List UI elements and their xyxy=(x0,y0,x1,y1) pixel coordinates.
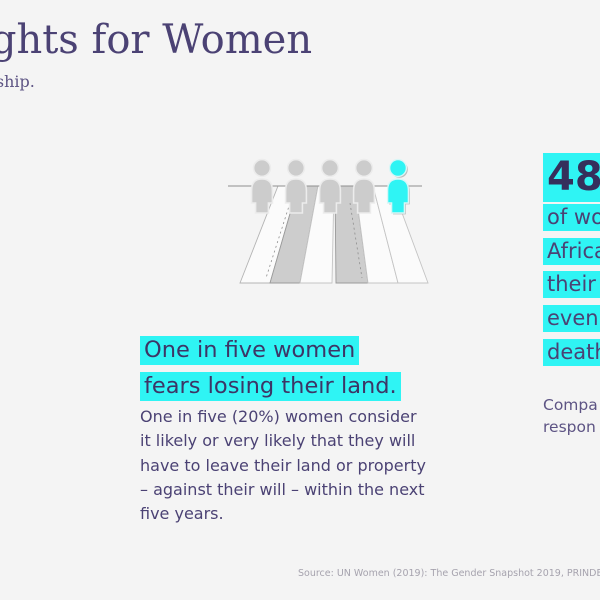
center-body-line-4: five years. xyxy=(140,504,224,523)
land-plots-illustration xyxy=(222,158,446,363)
left-stat-lede: ders are xyxy=(0,203,84,237)
source-citation: Source: UN Women (2019): The Gender Snap… xyxy=(298,568,600,579)
center-body-line-1: it likely or very likely that they will xyxy=(140,431,415,450)
center-body-line-3: – against their will – within the next xyxy=(140,480,425,499)
right-stat-lede-line-3: even xyxy=(543,305,600,332)
page-subtitle: p in Land Ownership. xyxy=(0,72,600,91)
left-body-text: women do hysical plot sizes aller, less … xyxy=(0,263,84,399)
right-body-line-1: respon xyxy=(543,418,596,436)
right-stat-lede: of wo Africa their even death xyxy=(543,203,600,372)
right-stat-lede-line-4: death xyxy=(543,339,600,366)
header: and Rights for Women p in Land Ownership… xyxy=(0,18,600,91)
right-stat-number: 48% xyxy=(543,155,600,200)
center-body-line-2: have to leave their land or property xyxy=(140,456,426,475)
center-headline-line-1: fears losing their land. xyxy=(140,372,401,401)
right-stat-lede-line-1: Africa xyxy=(543,238,600,265)
right-stat-lede-line-0: of wo xyxy=(543,204,600,231)
right-body-text: Compa respon xyxy=(543,394,600,439)
center-body-text: One in five (20%) women consider it like… xyxy=(140,405,432,527)
center-headline: One in five women fears losing their lan… xyxy=(140,334,440,406)
person-icon-1 xyxy=(252,160,273,213)
person-icon-5-highlighted xyxy=(388,160,410,215)
center-body-line-0: One in five (20%) women consider xyxy=(140,407,417,426)
page-title: and Rights for Women xyxy=(0,18,600,62)
right-stat-number-highlight: 48% xyxy=(543,153,600,202)
right-statistic-column: 48% of wo Africa their even death Compa … xyxy=(543,155,600,439)
right-stat-lede-line-2: their xyxy=(543,271,600,298)
left-statistic-column: % ders are women do hysical plot sizes a… xyxy=(0,155,84,398)
center-headline-line-0: One in five women xyxy=(140,336,359,365)
left-stat-number: % xyxy=(0,155,84,200)
right-body-line-0: Compa xyxy=(543,396,598,414)
